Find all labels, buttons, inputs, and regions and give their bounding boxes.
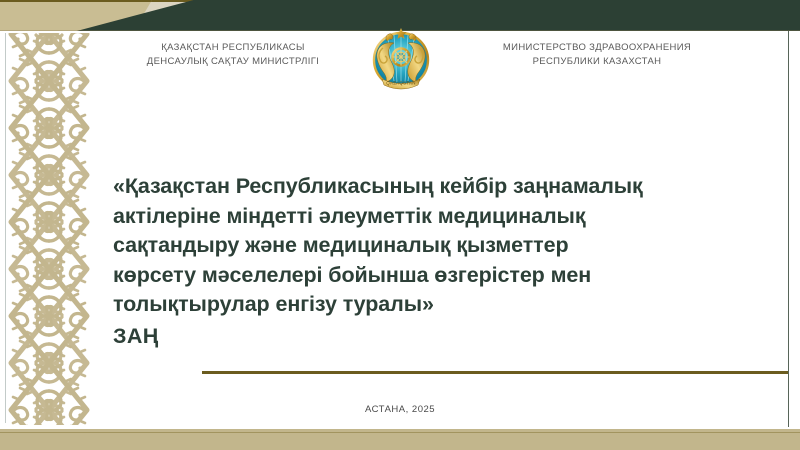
bottom-band-inner [0, 432, 800, 450]
page-title: «Қазақстан Республикасының кейбір заңнам… [113, 172, 785, 320]
ministry-header-kazakh-line2: ДЕНСАУЛЫҚ САҚТАУ МИНИСТРЛІГІ [102, 55, 364, 69]
ministry-header-russian-line2: РЕСПУБЛИКИ КАЗАХСТАН [452, 55, 742, 69]
bottom-decorative-band [0, 427, 800, 450]
title-line-4: көрсету мәселелері бойынша өзгерістер ме… [113, 261, 785, 291]
kazakh-ornament-border [8, 33, 90, 425]
title-line-3: сақтандыру және медициналық қызметтер [113, 231, 785, 261]
title-line-2: актілеріне міндетті әлеуметтік медицинал… [113, 202, 785, 232]
ministry-header-kazakh: ҚАЗАҚСТАН РЕСПУБЛИКАСЫ ДЕНСАУЛЫҚ САҚТАУ … [102, 41, 364, 69]
title-line-5: толықтырулар енгізу туралы» [113, 290, 785, 320]
ornament-edge-rule [5, 33, 6, 423]
gold-divider-rule [202, 371, 788, 374]
ministry-header-kazakh-line1: ҚАЗАҚСТАН РЕСПУБЛИКАСЫ [102, 41, 364, 55]
kazakhstan-state-emblem-icon: QAZAQSTAN [370, 24, 432, 98]
svg-text:QAZAQSTAN: QAZAQSTAN [386, 81, 415, 86]
right-vertical-rule [788, 31, 789, 430]
footer-place-year: АСТАНА, 2025 [0, 404, 800, 415]
law-word: ЗАҢ [113, 322, 159, 352]
ministry-header-russian: МИНИСТЕРСТВО ЗДРАВООХРАНЕНИЯ РЕСПУБЛИКИ … [452, 41, 742, 69]
ministry-header-russian-line1: МИНИСТЕРСТВО ЗДРАВООХРАНЕНИЯ [452, 41, 742, 55]
title-line-1: «Қазақстан Республикасының кейбір заңнам… [113, 172, 785, 202]
slide-canvas: ҚАЗАҚСТАН РЕСПУБЛИКАСЫ ДЕНСАУЛЫҚ САҚТАУ … [0, 0, 800, 450]
